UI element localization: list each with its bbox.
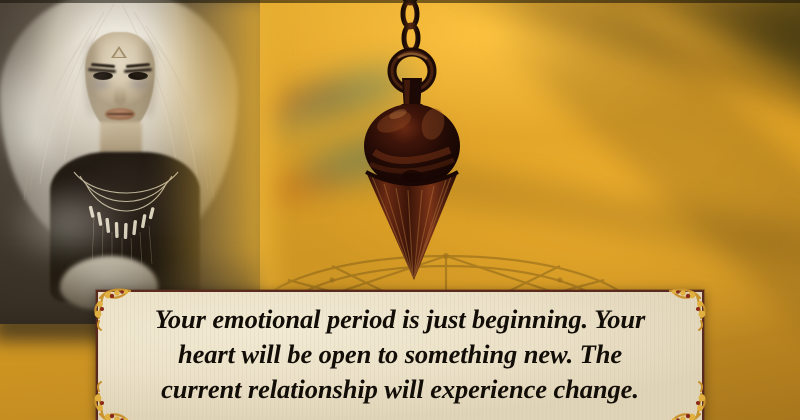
seer-woman-figure — [0, 0, 260, 324]
fortune-line-1: Your emotional period is just beginning.… — [108, 302, 692, 337]
fortune-line-3: current relationship will experience cha… — [108, 372, 692, 407]
fortune-text-plaque: Your emotional period is just beginning.… — [96, 290, 704, 420]
top-edge-line — [0, 0, 800, 3]
fortune-text: Your emotional period is just beginning.… — [98, 302, 702, 407]
divination-pendulum — [338, 0, 488, 284]
fortune-line-2: heart will be open to something new. The — [108, 337, 692, 372]
screenshot-root: Your emotional period is just beginning.… — [0, 0, 800, 420]
